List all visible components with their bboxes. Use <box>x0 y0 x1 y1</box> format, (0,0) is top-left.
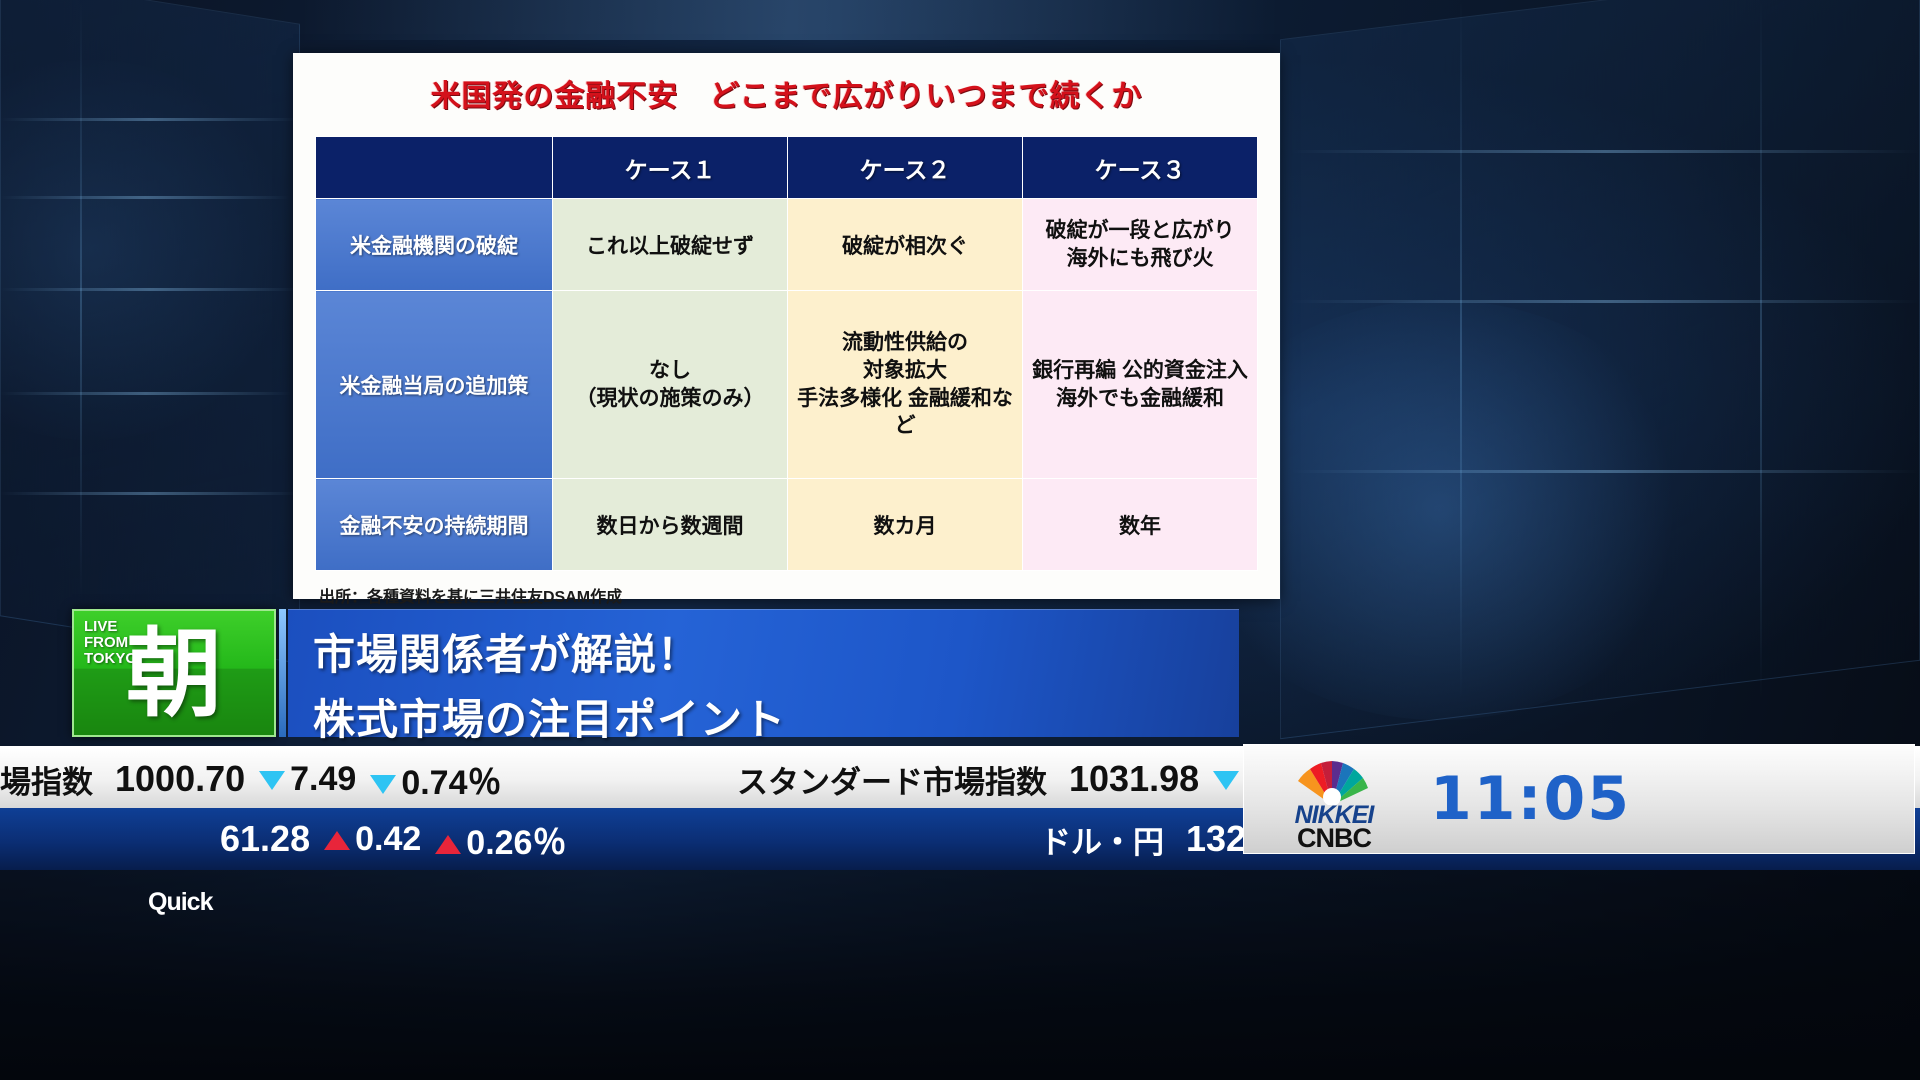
column-header-case3: ケース３ <box>1023 137 1258 199</box>
background-strip-2 <box>1460 0 1462 700</box>
ticker-change: 0.42 <box>324 820 421 859</box>
cell-r1-case2: 破綻が相次ぐ <box>788 199 1023 291</box>
background-rail-2 <box>0 196 290 199</box>
down-arrow-icon <box>259 771 285 790</box>
background-rail-6 <box>1290 150 1920 153</box>
cell-r2-case3: 銀行再編 公的資金注入 海外でも金融緩和 <box>1023 291 1258 479</box>
cell-r3-case1: 数日から数週間 <box>553 479 788 571</box>
cell-r1-case3-line1: 破綻が一段と広がり <box>1046 219 1235 242</box>
ticker-change: 7.49 <box>259 760 356 799</box>
cell-r2-case1: なし （現状の施策のみ） <box>553 291 788 479</box>
background-rail-7 <box>1290 300 1920 303</box>
ticker-label: スタンダード市場指数 <box>737 757 1047 802</box>
down-arrow-icon <box>370 775 396 794</box>
cell-r3-case3: 数年 <box>1023 479 1258 571</box>
headline-line-2: 株式市場の注目ポイント <box>288 682 1239 747</box>
up-arrow-icon <box>324 831 350 850</box>
row-header-bank-failures: 米金融機関の破綻 <box>316 199 553 291</box>
background-rail-1 <box>0 118 300 121</box>
ticker-value: 1000.70 <box>115 758 245 800</box>
background-beam <box>300 0 1280 40</box>
cell-r1-case3: 破綻が一段と広がり 海外にも飛び火 <box>1023 199 1258 291</box>
program-badge: LIVE FROM TOKYO 朝 <box>72 609 276 737</box>
badge-kanji: 朝 <box>74 615 274 735</box>
cell-r2-case2-line2: 対象拡大 <box>863 359 947 382</box>
table-row: 米金融当局の追加策 なし （現状の施策のみ） 流動性供給の 対象拡大 手法多様化… <box>316 291 1258 479</box>
ticker-item-growth-index: 場指数 1000.70 7.49 0.74％ <box>0 748 502 810</box>
on-air-clock: 11:05 <box>1430 764 1631 834</box>
cell-r1-case3-line2: 海外にも飛び火 <box>1067 247 1214 270</box>
card-title: 米国発の金融不安 どこまで広がりいつまで続くか <box>293 53 1280 115</box>
background-rail-8 <box>1290 470 1920 473</box>
table-row: 米金融機関の破綻 これ以上破綻せず 破綻が相次ぐ 破綻が一段と広がり 海外にも飛… <box>316 199 1258 291</box>
cell-r2-case3-line3: 海外でも金融緩和 <box>1056 387 1224 410</box>
up-arrow-icon <box>435 835 461 854</box>
ticker-value: 61.28 <box>220 818 310 860</box>
cell-r2-case2: 流動性供給の 対象拡大 手法多様化 金融緩和など <box>788 291 1023 479</box>
cell-r1-case1: これ以上破綻せず <box>553 199 788 291</box>
table-header-row: ケース１ ケース２ ケース３ <box>316 137 1258 199</box>
background-panel-left <box>0 0 300 664</box>
ticker-label: 場指数 <box>0 757 93 802</box>
headline-line-1: 市場関係者が解説！ <box>288 609 1239 682</box>
ticker-change-value: 7.49 <box>290 760 356 798</box>
cell-r2-case2-line1: 流動性供給の <box>842 331 968 354</box>
quick-brand-label: Quick <box>148 888 212 917</box>
ticker-percent-value: 0.74％ <box>401 764 501 802</box>
background-rail-5 <box>0 492 300 495</box>
table-corner-cell <box>316 137 553 199</box>
channel-clock-box: NIKKEI CNBC 11:05 <box>1243 744 1915 854</box>
cell-r2-case2-line3: 手法多様化 <box>797 387 902 410</box>
cell-r2-case1-line1: なし <box>649 359 691 382</box>
column-header-case2: ケース２ <box>788 137 1023 199</box>
ticker-percent: 0.26％ <box>435 815 566 864</box>
cnbc-wordmark: CNBC <box>1272 823 1396 854</box>
ticker-percent: 0.74％ <box>370 755 501 804</box>
background-strip-3 <box>1760 0 1762 700</box>
ticker-label: ドル・円 <box>1040 817 1164 862</box>
background-rail-3 <box>0 288 300 291</box>
column-header-case1: ケース１ <box>553 137 788 199</box>
badge-separator <box>279 609 286 737</box>
cell-r3-case2: 数カ月 <box>788 479 1023 571</box>
ticker-change-value: 0.42 <box>355 820 421 858</box>
headline-banner: 市場関係者が解説！ 株式市場の注目ポイント <box>288 609 1239 737</box>
row-header-authority-measures: 米金融当局の追加策 <box>316 291 553 479</box>
nikkei-cnbc-logo: NIKKEI CNBC <box>1260 749 1408 849</box>
peacock-icon <box>1282 751 1382 805</box>
scenario-table: ケース１ ケース２ ケース３ 米金融機関の破綻 これ以上破綻せず 破綻が相次ぐ … <box>315 136 1258 571</box>
row-header-duration: 金融不安の持続期間 <box>316 479 553 571</box>
cell-r2-case1-line2: （現状の施策のみ） <box>576 387 765 410</box>
background-panel-right <box>1280 0 1920 739</box>
lower-third: LIVE FROM TOKYO 朝 市場関係者が解説！ 株式市場の注目ポイント <box>0 600 1239 746</box>
broadcast-screen: 米国発の金融不安 どこまで広がりいつまで続くか ケース１ ケース２ ケース３ 米… <box>0 0 1920 1080</box>
background-strip-1 <box>80 0 82 600</box>
graphic-card: 米国発の金融不安 どこまで広がりいつまで続くか ケース１ ケース２ ケース３ 米… <box>293 53 1280 599</box>
cell-r2-case3-line1: 銀行再編 <box>1032 359 1116 382</box>
background-rail-4 <box>0 392 292 395</box>
table-row: 金融不安の持続期間 数日から数週間 数カ月 数年 <box>316 479 1258 571</box>
ticker-percent-value: 0.26％ <box>466 824 566 862</box>
ticker-value: 1031.98 <box>1069 758 1199 800</box>
down-arrow-icon <box>1213 771 1239 790</box>
cell-r2-case2-line4: 金融緩和など <box>895 387 1013 438</box>
cell-r2-case3-line2: 公的資金注入 <box>1122 359 1248 382</box>
ticker-item-quick: 61.28 0.42 0.26％ <box>148 808 566 870</box>
